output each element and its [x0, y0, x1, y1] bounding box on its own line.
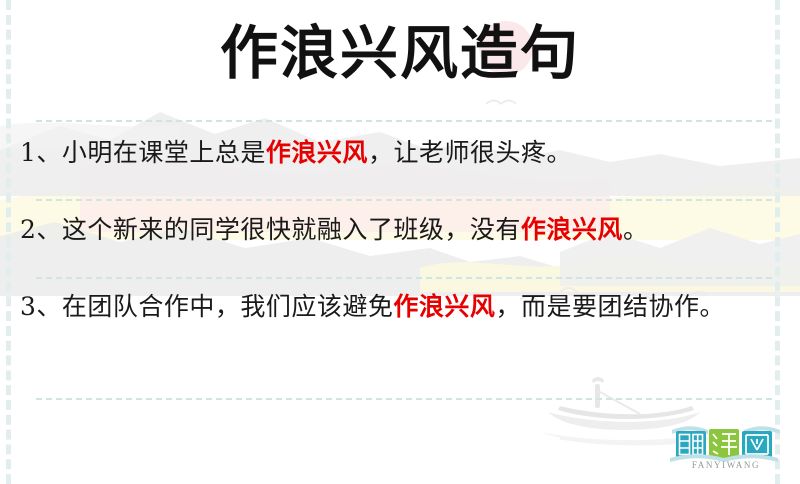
divider-bottom	[36, 398, 772, 400]
highlighted-idiom: 作浪兴风	[521, 215, 623, 244]
divider-2	[36, 277, 772, 279]
sentence-text-after: ，让老师很头疼。	[368, 138, 572, 167]
highlighted-idiom: 作浪兴风	[266, 138, 368, 167]
divider-1	[36, 199, 772, 201]
list-item: 3、在团队合作中，我们应该避免作浪兴风，而是要团结协作。	[20, 286, 772, 328]
divider-top	[36, 120, 772, 122]
page-title: 作浪兴风造句	[0, 22, 800, 86]
sentence-text-after: ，而是要团结协作。	[495, 292, 725, 321]
sentence-text-before: 这个新来的同学很快就融入了班级，没有	[62, 215, 521, 244]
sentence-text-before: 在团队合作中，我们应该避免	[62, 292, 394, 321]
list-item: 1、小明在课堂上总是作浪兴风，让老师很头疼。	[20, 132, 770, 174]
page-canvas: 作浪兴风造句 1、小明在课堂上总是作浪兴风，让老师很头疼。 2、这个新来的同学很…	[0, 0, 800, 484]
sentence-index: 1、	[20, 138, 62, 167]
list-item: 2、这个新来的同学很快就融入了班级，没有作浪兴风。	[20, 209, 770, 251]
sentence-index: 2、	[20, 215, 62, 244]
logo-char-fan-icon	[676, 431, 706, 458]
logo-char-yi-icon	[709, 429, 739, 459]
logo-char-wang-icon	[742, 431, 772, 458]
sentence-text-before: 小明在课堂上总是	[62, 138, 266, 167]
logo-caption: FANYIWANG	[668, 460, 784, 470]
site-logo[interactable]: FANYIWANG	[668, 424, 784, 476]
sentence-index: 3、	[20, 292, 62, 321]
sentence-text-after: 。	[623, 215, 649, 244]
highlighted-idiom: 作浪兴风	[393, 292, 495, 321]
